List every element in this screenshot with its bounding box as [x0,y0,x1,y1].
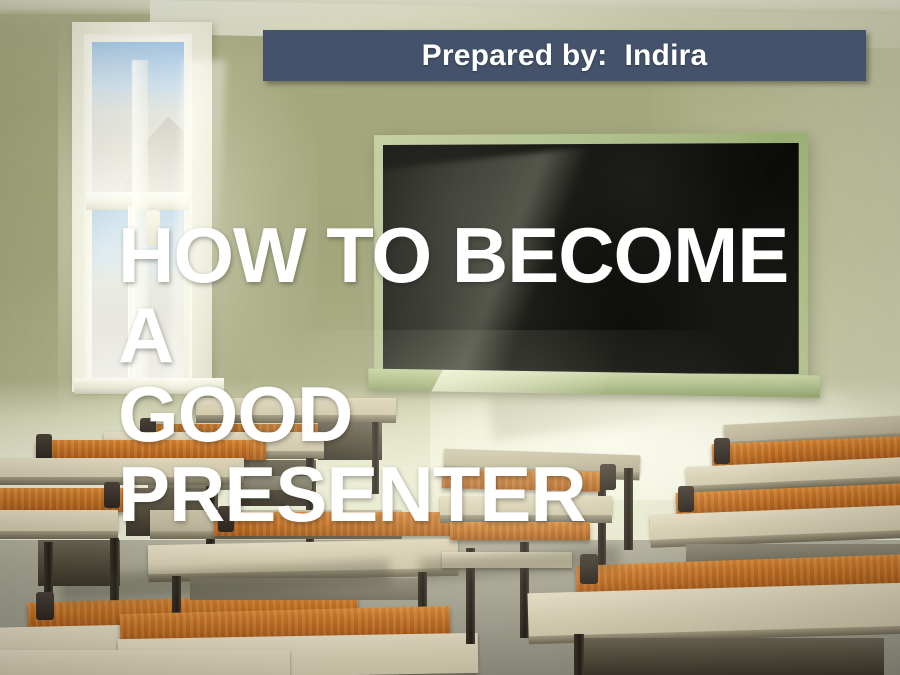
prepared-by-text: Prepared by: Indira [422,39,708,73]
presentation-slide: Prepared by: Indira HOW TO BECOME A GOOD… [0,0,900,675]
bench-knob [36,592,54,620]
desk-edge [0,531,118,539]
desk-leg [574,634,584,675]
desk-top [0,510,118,532]
bench-knob [36,434,52,460]
desk-top [0,650,290,675]
desk-front-right [527,583,900,638]
desk-row4-left [0,510,118,532]
prepared-by-banner: Prepared by: Indira [263,30,866,81]
desk-apron [584,638,884,675]
slide-title: HOW TO BECOME A GOOD PRESENTER [118,216,818,534]
desk-bottom-left [0,650,290,675]
